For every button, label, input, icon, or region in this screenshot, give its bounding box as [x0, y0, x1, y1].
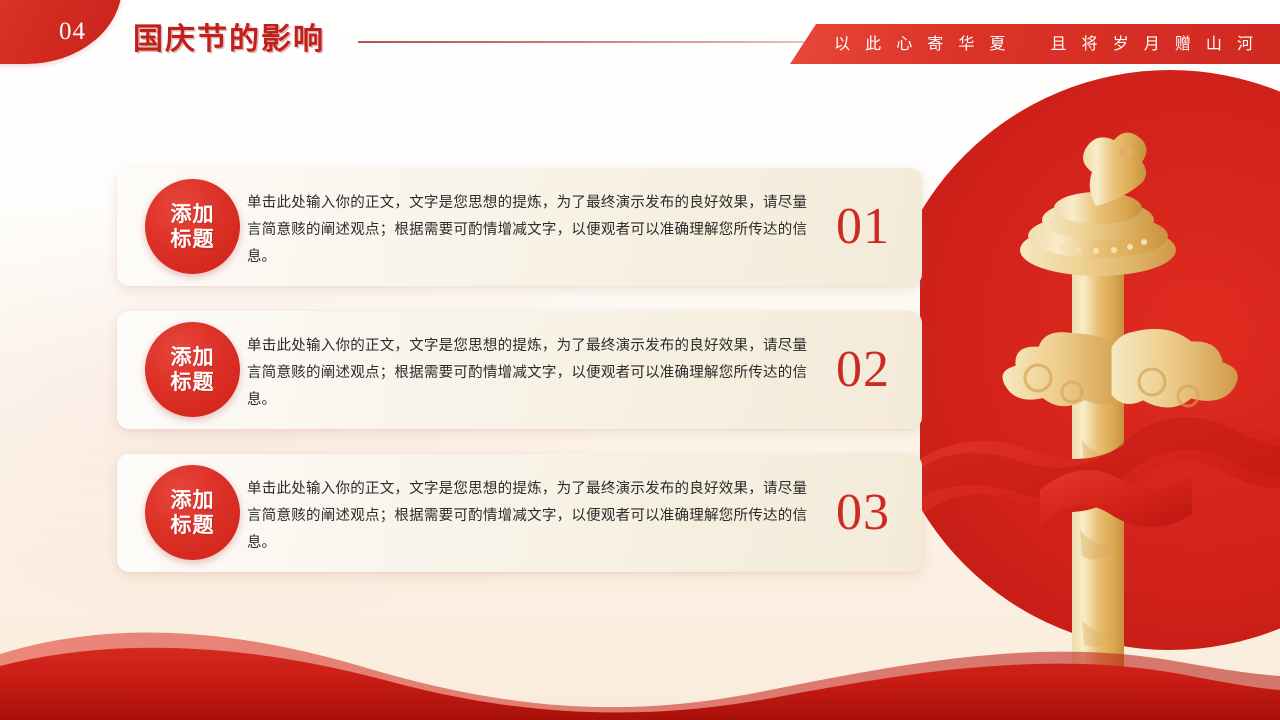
card-title-badge[interactable]: 添加 标题 — [145, 179, 240, 274]
card-index-number: 01 — [836, 201, 890, 253]
card-badge-line-1: 添加 — [171, 202, 215, 227]
section-number-text: 04 — [59, 19, 86, 44]
content-card[interactable]: 添加 标题 单击此处输入你的正文，文字是您思想的提炼，为了最终演示发布的良好效果… — [117, 454, 922, 572]
slide-canvas: 04 国庆节的影响 以 此 心 寄 华 夏 且 将 岁 月 赠 山 河 添加 标… — [0, 0, 1280, 720]
card-badge-line-1: 添加 — [171, 345, 215, 370]
card-badge-line-2: 标题 — [171, 227, 215, 252]
slogan-left-text: 以 此 心 寄 华 夏 — [834, 24, 1010, 64]
red-wave — [0, 570, 1280, 720]
card-title-badge[interactable]: 添加 标题 — [145, 322, 240, 417]
slogan-right-text: 且 将 岁 月 赠 山 河 — [1050, 24, 1258, 64]
card-badge-line-1: 添加 — [171, 488, 215, 513]
page-title: 国庆节的影响 — [133, 20, 325, 60]
card-index-number: 02 — [836, 344, 890, 396]
content-card-list: 添加 标题 单击此处输入你的正文，文字是您思想的提炼，为了最终演示发布的良好效果… — [117, 168, 922, 572]
card-body-text: 单击此处输入你的正文，文字是您思想的提炼，为了最终演示发布的良好效果，请尽量言简… — [247, 476, 807, 557]
section-number-badge: 04 — [0, 0, 122, 64]
card-badge-line-2: 标题 — [171, 370, 215, 395]
card-body-text: 单击此处输入你的正文，文字是您思想的提炼，为了最终演示发布的良好效果，请尽量言简… — [247, 190, 807, 271]
card-badge-line-2: 标题 — [171, 513, 215, 538]
content-card[interactable]: 添加 标题 单击此处输入你的正文，文字是您思想的提炼，为了最终演示发布的良好效果… — [117, 311, 922, 429]
card-title-badge[interactable]: 添加 标题 — [145, 465, 240, 560]
title-divider-line — [358, 41, 878, 43]
content-card[interactable]: 添加 标题 单击此处输入你的正文，文字是您思想的提炼，为了最终演示发布的良好效果… — [117, 168, 922, 286]
card-index-number: 03 — [836, 487, 890, 539]
slide-header: 04 国庆节的影响 以 此 心 寄 华 夏 且 将 岁 月 赠 山 河 — [0, 0, 1280, 72]
card-body-text: 单击此处输入你的正文，文字是您思想的提炼，为了最终演示发布的良好效果，请尽量言简… — [247, 333, 807, 414]
slogan-banner: 以 此 心 寄 华 夏 且 将 岁 月 赠 山 河 — [790, 24, 1280, 64]
